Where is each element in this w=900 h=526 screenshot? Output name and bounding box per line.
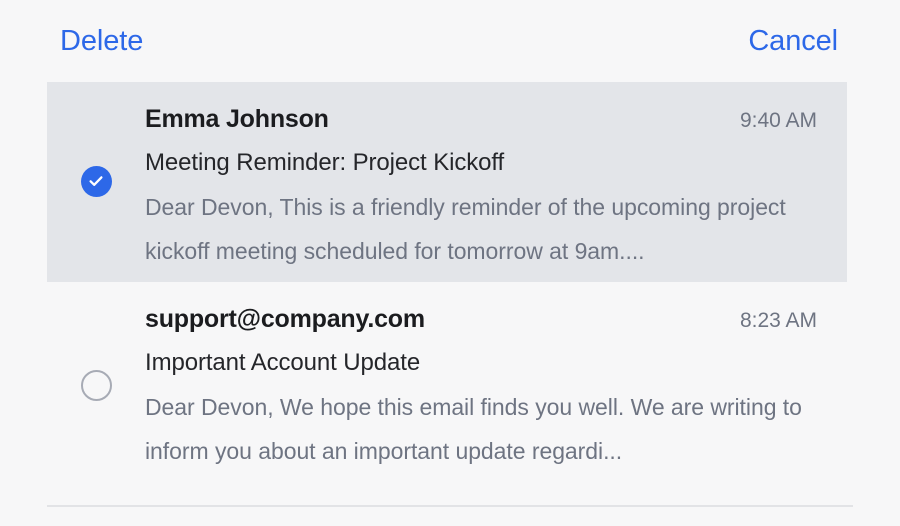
email-subject: Important Account Update (145, 349, 817, 378)
email-preview: Dear Devon, This is a friendly reminder … (145, 186, 817, 272)
email-content: Emma Johnson 9:40 AM Meeting Reminder: P… (145, 82, 847, 273)
select-column (47, 282, 145, 491)
action-bar: Delete Cancel (0, 0, 900, 82)
email-timestamp: 9:40 AM (740, 108, 817, 133)
email-timestamp: 8:23 AM (740, 308, 817, 333)
email-preview: Dear Devon, We hope this email finds you… (145, 386, 817, 472)
email-checkbox-checked[interactable] (81, 166, 112, 197)
check-icon (87, 172, 105, 190)
delete-button[interactable]: Delete (60, 27, 143, 56)
select-column (47, 82, 145, 282)
email-list: Emma Johnson 9:40 AM Meeting Reminder: P… (0, 82, 900, 491)
email-sender: Emma Johnson (145, 105, 329, 135)
email-sender: support@company.com (145, 305, 425, 335)
list-bottom-divider (47, 505, 853, 507)
email-list-item[interactable]: Emma Johnson 9:40 AM Meeting Reminder: P… (47, 82, 847, 282)
cancel-button[interactable]: Cancel (748, 27, 838, 56)
email-subject: Meeting Reminder: Project Kickoff (145, 149, 817, 178)
email-checkbox-unchecked[interactable] (81, 370, 112, 401)
email-list-item[interactable]: support@company.com 8:23 AM Important Ac… (47, 282, 847, 491)
email-header-line: Emma Johnson 9:40 AM (145, 105, 817, 135)
email-content: support@company.com 8:23 AM Important Ac… (145, 282, 847, 473)
email-header-line: support@company.com 8:23 AM (145, 305, 817, 335)
